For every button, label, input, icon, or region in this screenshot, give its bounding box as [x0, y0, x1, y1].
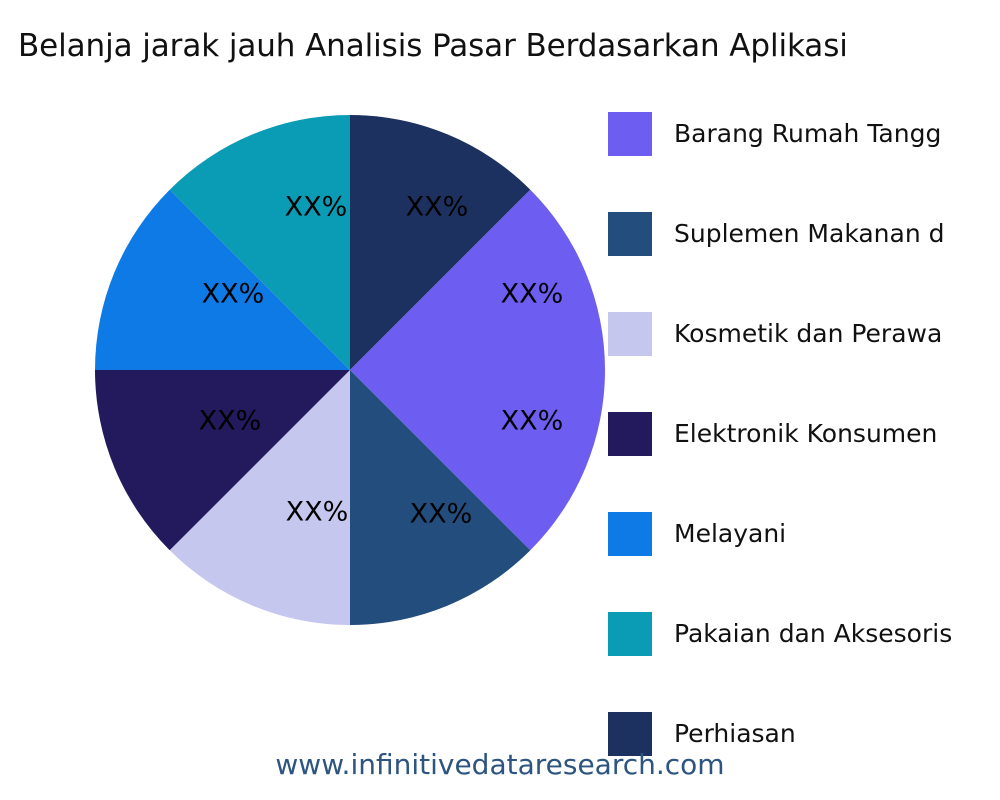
pie-plot-area: XX%XX%XX%XX%XX%XX%XX%XX% — [95, 110, 610, 630]
pie-slice-label: XX% — [286, 497, 349, 528]
chart-title: Belanja jarak jauh Analisis Pasar Berdas… — [18, 26, 978, 66]
legend-color-swatch-icon — [608, 112, 652, 156]
pie-slice-label: XX% — [202, 279, 265, 310]
chart-legend: Barang Rumah TanggSuplemen Makanan dKosm… — [608, 112, 1000, 772]
pie-slice-label: XX% — [406, 192, 469, 223]
pie-slice-label: XX% — [285, 192, 348, 223]
legend-item[interactable]: Barang Rumah Tangg — [608, 112, 941, 156]
legend-item[interactable]: Melayani — [608, 512, 786, 556]
pie-chart-figure: Belanja jarak jauh Analisis Pasar Berdas… — [0, 0, 1000, 800]
legend-item-label: Suplemen Makanan d — [674, 219, 945, 249]
legend-item-label: Kosmetik dan Perawa — [674, 319, 942, 349]
pie-slice-label: XX% — [410, 499, 473, 530]
pie-slice-label: XX% — [501, 406, 564, 437]
legend-color-swatch-icon — [608, 212, 652, 256]
pie-svg: XX%XX%XX%XX%XX%XX%XX%XX% — [95, 110, 610, 630]
legend-item[interactable]: Suplemen Makanan d — [608, 212, 945, 256]
legend-item-label: Melayani — [674, 519, 786, 549]
pie-slice-group — [95, 115, 605, 625]
legend-item-label: Perhiasan — [674, 719, 796, 749]
legend-item-label: Barang Rumah Tangg — [674, 119, 941, 149]
legend-color-swatch-icon — [608, 412, 652, 456]
legend-item[interactable]: Kosmetik dan Perawa — [608, 312, 942, 356]
legend-item[interactable]: Pakaian dan Aksesoris — [608, 612, 952, 656]
legend-color-swatch-icon — [608, 512, 652, 556]
legend-item-label: Pakaian dan Aksesoris — [674, 619, 952, 649]
pie-slice-label: XX% — [501, 279, 564, 310]
legend-item-label: Elektronik Konsumen — [674, 419, 937, 449]
footer-watermark-url: www.infinitivedataresearch.com — [0, 748, 1000, 782]
legend-color-swatch-icon — [608, 312, 652, 356]
pie-slice-label: XX% — [199, 406, 262, 437]
legend-item[interactable]: Elektronik Konsumen — [608, 412, 937, 456]
legend-color-swatch-icon — [608, 612, 652, 656]
